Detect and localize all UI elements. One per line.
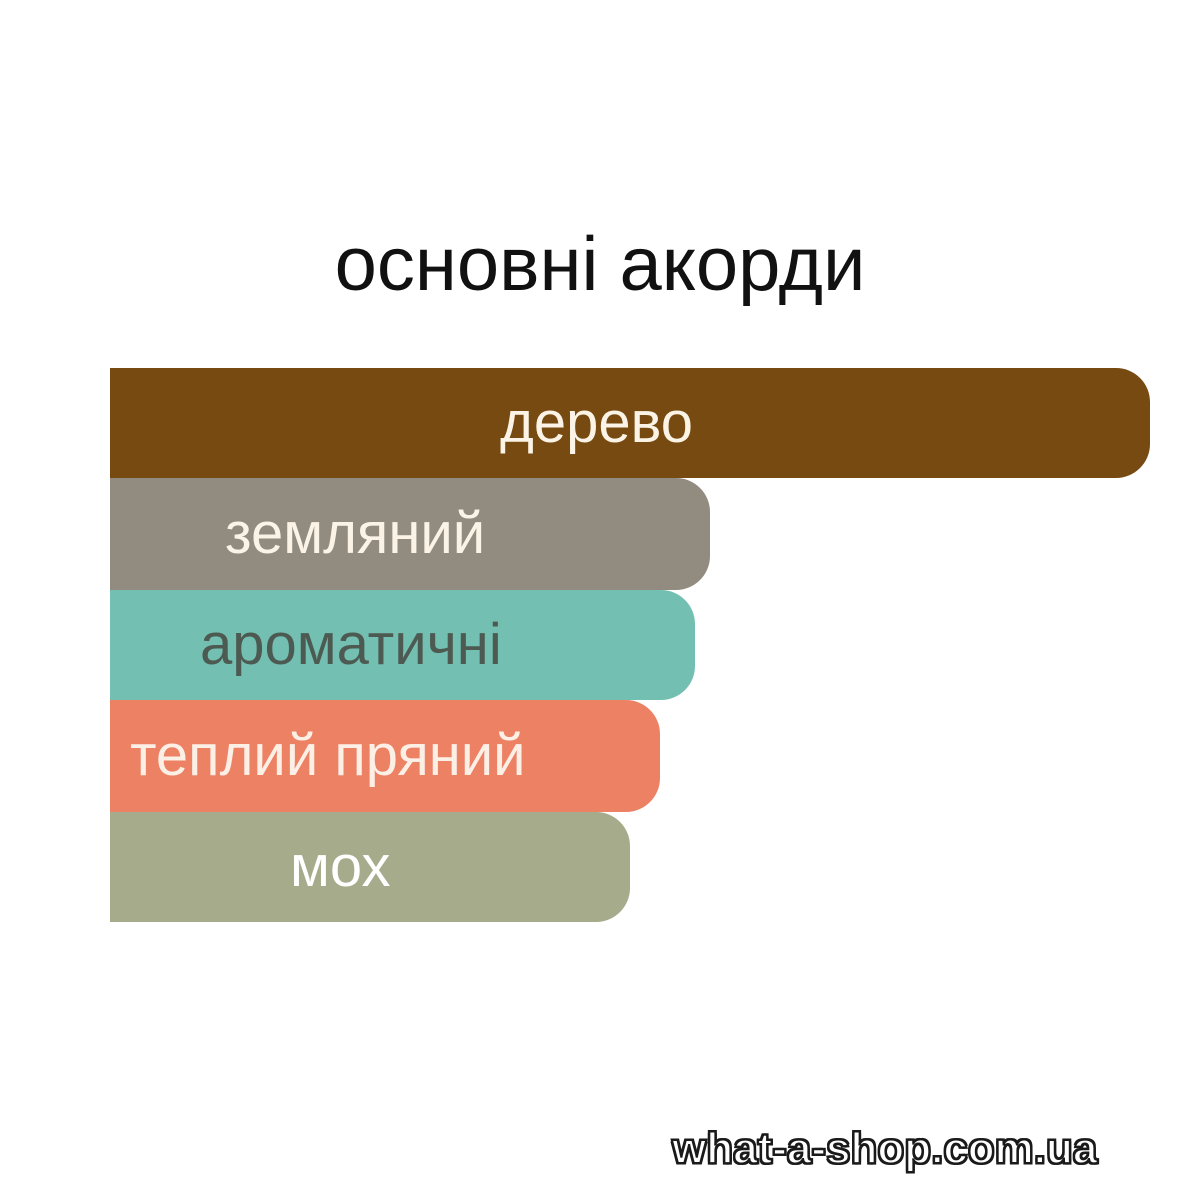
infographic-canvas: основні акорди дерево земляний ароматичн… [0,0,1200,1200]
bar-teplyi-pryanyi: теплий пряний [110,700,660,812]
bar-label: мох [110,838,390,896]
bar-derevo: дерево [110,368,1150,478]
bar-row: мох [110,812,1170,922]
bar-mokh: мох [110,812,630,922]
bar-row: ароматичні [110,590,1170,700]
bar-label: земляний [110,505,485,563]
bar-zemlyanyi: земляний [110,478,710,590]
bar-chart: дерево земляний ароматичні теплий пряний… [110,368,1170,922]
page-title: основні акорди [0,222,1200,308]
bar-row: дерево [110,368,1170,478]
bar-label: дерево [110,394,693,452]
bar-label: ароматичні [110,616,502,674]
bar-aromatychni: ароматичні [110,590,695,700]
bar-row: теплий пряний [110,700,1170,812]
bar-row: земляний [110,478,1170,590]
bar-label: теплий пряний [110,727,526,785]
watermark-text: what-a-shop.com.ua [672,1124,1097,1174]
